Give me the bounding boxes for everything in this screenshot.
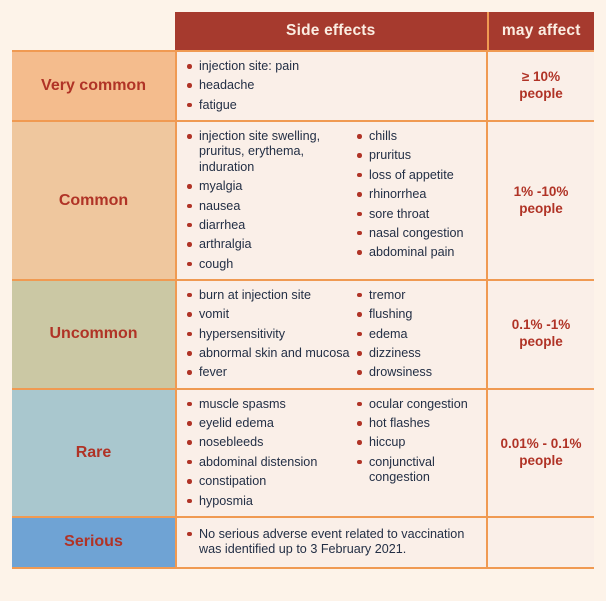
list-item: eyelid edema <box>187 416 357 431</box>
table-header-row: Side effects may affect <box>175 12 594 50</box>
frequency-value: 0.01% - 0.1% <box>500 436 581 453</box>
list-item: pruritus <box>357 148 492 163</box>
frequency-value: 1% -10% <box>514 184 569 201</box>
list-item: abdominal pain <box>357 245 492 260</box>
side-effects-list: ocular congestionhot flasheshiccupconjun… <box>357 397 492 486</box>
side-effects-column-2: chillspruritusloss of appetiterhinorrhea… <box>357 129 492 272</box>
category-label: Very common <box>41 77 146 95</box>
side-effects-list: burn at injection sitevomithypersensitiv… <box>187 288 357 381</box>
list-item: abnormal skin and mucosa <box>187 346 357 361</box>
side-effects-cell: muscle spasmseyelid edemanosebleedsabdom… <box>175 390 488 516</box>
side-effects-list: injection site: painheadachefatigue <box>187 59 480 113</box>
side-effects-column-1: injection site swelling, pruritus, eryth… <box>187 129 357 272</box>
table-row: Uncommonburn at injection sitevomithyper… <box>12 281 594 390</box>
list-item: vomit <box>187 307 357 322</box>
side-effects-column-1: injection site: painheadachefatigue <box>187 59 480 113</box>
frequency-cell: 0.1% -1%people <box>488 281 594 388</box>
list-item: hot flashes <box>357 416 492 431</box>
side-effects-column-2: ocular congestionhot flasheshiccupconjun… <box>357 397 492 509</box>
header-side-effects: Side effects <box>175 12 489 50</box>
side-effects-cell: burn at injection sitevomithypersensitiv… <box>175 281 488 388</box>
list-item: hyposmia <box>187 494 357 509</box>
frequency-text: 1% -10%people <box>514 184 569 218</box>
list-item: drowsiness <box>357 365 492 380</box>
side-effects-cell: No serious adverse event related to vacc… <box>175 518 488 567</box>
list-item: arthralgia <box>187 237 357 252</box>
list-item: No serious adverse event related to vacc… <box>187 527 480 558</box>
category-label: Serious <box>64 533 123 551</box>
list-item: muscle spasms <box>187 397 357 412</box>
category-label: Rare <box>76 444 112 462</box>
frequency-cell: 0.01% - 0.1%people <box>488 390 594 516</box>
list-item: myalgia <box>187 179 357 194</box>
category-cell-uncommon: Uncommon <box>12 281 175 388</box>
list-item: conjunctival congestion <box>357 455 492 486</box>
frequency-text: 0.1% -1%people <box>512 317 571 351</box>
list-item: nasal congestion <box>357 226 492 241</box>
frequency-unit: people <box>512 334 571 351</box>
frequency-text: ≥ 10%people <box>519 69 563 103</box>
frequency-cell: ≥ 10%people <box>488 52 594 120</box>
table-row: Raremuscle spasmseyelid edemanosebleedsa… <box>12 390 594 518</box>
list-item: loss of appetite <box>357 168 492 183</box>
list-item: flushing <box>357 307 492 322</box>
list-item: tremor <box>357 288 492 303</box>
list-item: abdominal distension <box>187 455 357 470</box>
list-item: burn at injection site <box>187 288 357 303</box>
side-effects-list: tremorflushingedemadizzinessdrowsiness <box>357 288 492 381</box>
frequency-unit: people <box>519 86 563 103</box>
list-item: sore throat <box>357 207 492 222</box>
frequency-unit: people <box>500 453 581 470</box>
category-cell-common: Common <box>12 122 175 279</box>
list-item: headache <box>187 78 480 93</box>
frequency-cell <box>488 518 594 567</box>
list-item: hypersensitivity <box>187 327 357 342</box>
list-item: dizziness <box>357 346 492 361</box>
frequency-value: 0.1% -1% <box>512 317 571 334</box>
category-cell-very-common: Very common <box>12 52 175 120</box>
list-item: fatigue <box>187 98 480 113</box>
side-effects-table-figure: Side effects may affect Very commoninjec… <box>0 0 606 601</box>
list-item: nausea <box>187 199 357 214</box>
side-effects-list: muscle spasmseyelid edemanosebleedsabdom… <box>187 397 357 509</box>
side-effects-cell: injection site: painheadachefatigue <box>175 52 488 120</box>
list-item: edema <box>357 327 492 342</box>
table-row: Very commoninjection site: painheadachef… <box>12 52 594 122</box>
list-item: nosebleeds <box>187 435 357 450</box>
list-item: hiccup <box>357 435 492 450</box>
category-label: Common <box>59 192 128 210</box>
header-may-affect-label: may affect <box>502 22 581 40</box>
table-row: Commoninjection site swelling, pruritus,… <box>12 122 594 281</box>
table-row: SeriousNo serious adverse event related … <box>12 518 594 569</box>
list-item: ocular congestion <box>357 397 492 412</box>
frequency-cell: 1% -10%people <box>488 122 594 279</box>
frequency-value: ≥ 10% <box>519 69 563 86</box>
header-side-effects-label: Side effects <box>286 22 375 40</box>
side-effects-list: injection site swelling, pruritus, eryth… <box>187 129 357 272</box>
side-effects-column-1: burn at injection sitevomithypersensitiv… <box>187 288 357 381</box>
list-item: injection site swelling, pruritus, eryth… <box>187 129 357 175</box>
list-item: fever <box>187 365 357 380</box>
frequency-unit: people <box>514 201 569 218</box>
list-item: injection site: pain <box>187 59 480 74</box>
category-label: Uncommon <box>50 325 138 343</box>
category-cell-rare: Rare <box>12 390 175 516</box>
header-may-affect: may affect <box>489 12 595 50</box>
frequency-text: 0.01% - 0.1%people <box>500 436 581 470</box>
side-effects-column-1: muscle spasmseyelid edemanosebleedsabdom… <box>187 397 357 509</box>
list-item: cough <box>187 257 357 272</box>
side-effects-column-1: No serious adverse event related to vacc… <box>187 527 480 558</box>
list-item: diarrhea <box>187 218 357 233</box>
table-body: Very commoninjection site: painheadachef… <box>12 50 594 569</box>
side-effects-cell: injection site swelling, pruritus, eryth… <box>175 122 488 279</box>
category-cell-serious: Serious <box>12 518 175 567</box>
list-item: rhinorrhea <box>357 187 492 202</box>
list-item: chills <box>357 129 492 144</box>
side-effects-list: chillspruritusloss of appetiterhinorrhea… <box>357 129 492 261</box>
list-item: constipation <box>187 474 357 489</box>
side-effects-list: No serious adverse event related to vacc… <box>187 527 480 558</box>
side-effects-column-2: tremorflushingedemadizzinessdrowsiness <box>357 288 492 381</box>
